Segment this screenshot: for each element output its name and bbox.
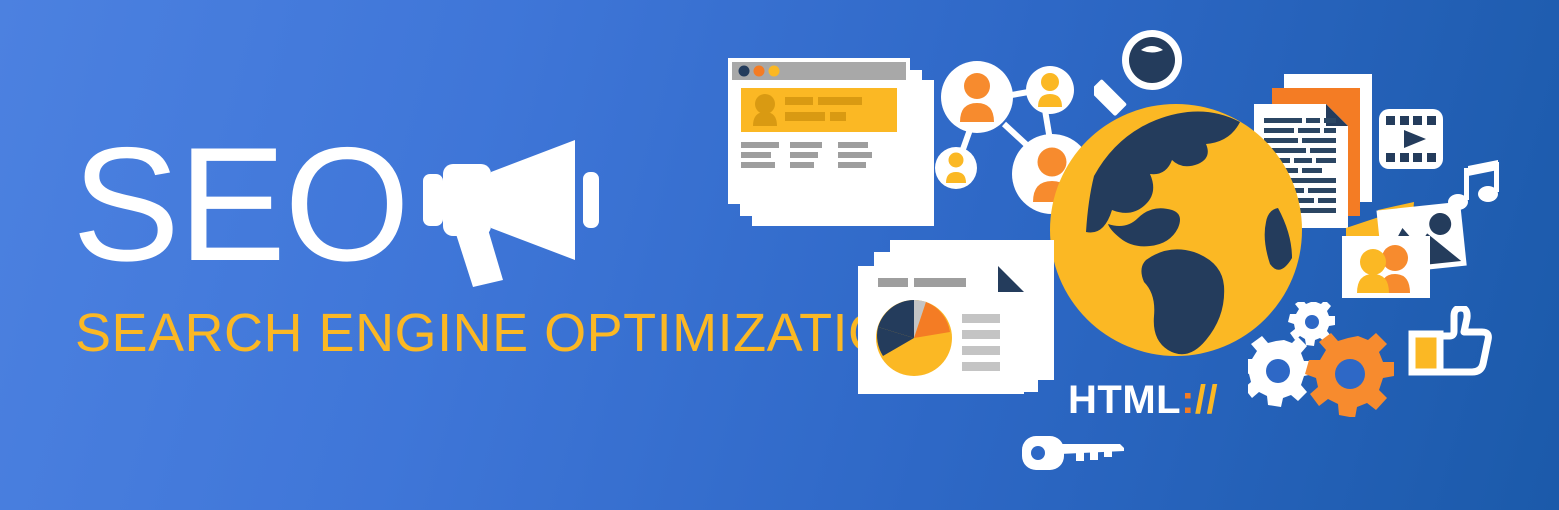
html-label-slashes: // <box>1195 378 1218 422</box>
window-dot-min <box>754 66 765 77</box>
video-film-icon <box>1378 108 1444 175</box>
photo-stack <box>1342 192 1472 309</box>
gear-medium <box>1248 336 1313 407</box>
card-header-bar <box>878 278 908 287</box>
html-protocol-label: HTML:// <box>1068 378 1218 423</box>
analytics-report-cards <box>858 238 1058 405</box>
window-dot-max <box>769 66 780 77</box>
browser-window-mockup <box>728 58 938 238</box>
key-icon <box>1020 430 1126 481</box>
seo-banner: SEO SEARCH ENGINE OPTIMIZATION <box>0 0 1559 510</box>
gear-large <box>1305 333 1394 417</box>
html-label-text: HTML <box>1068 378 1181 422</box>
gears-cluster <box>1248 302 1408 422</box>
people-photo <box>1342 236 1430 298</box>
pie-chart <box>876 300 952 376</box>
card-header-bar <box>914 278 966 287</box>
megaphone-icon <box>415 132 605 292</box>
thumbs-up-cuff <box>1412 334 1440 372</box>
html-label-colon: : <box>1181 378 1195 422</box>
page-subtitle: SEARCH ENGINE OPTIMIZATION <box>75 306 930 360</box>
thumbs-up-icon <box>1406 306 1492 383</box>
window-dot-close <box>739 66 750 77</box>
